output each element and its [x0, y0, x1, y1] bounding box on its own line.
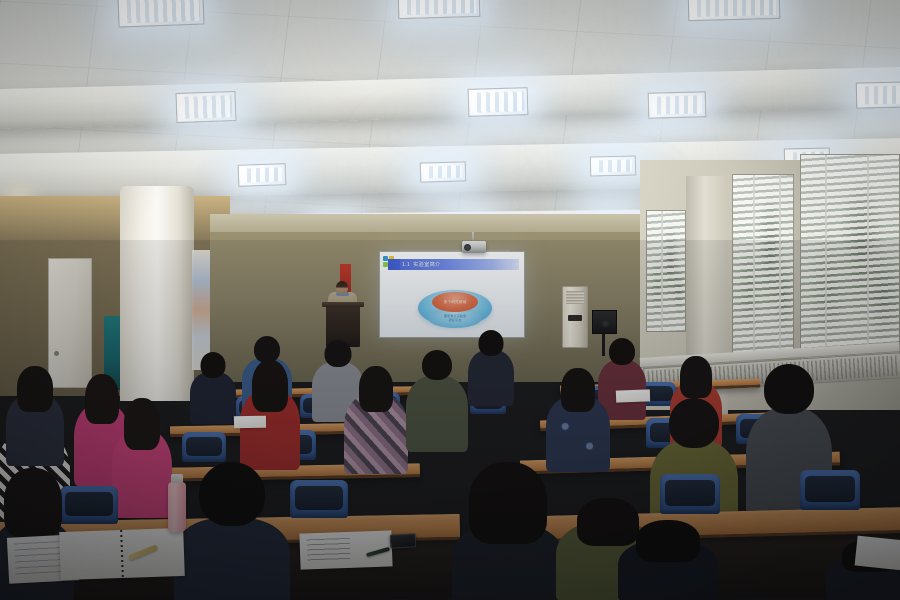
hair — [4, 468, 62, 538]
podium-top — [322, 302, 364, 307]
presenter-head — [336, 281, 348, 294]
ceiling-light-troffer-7 — [238, 163, 287, 187]
window-panel-3 — [800, 154, 900, 368]
blind-slats-3[interactable] — [801, 155, 899, 367]
blind-slats-1[interactable] — [647, 211, 685, 331]
torso — [406, 376, 468, 452]
person-blue-shirt — [190, 352, 236, 424]
door-knob-icon — [54, 351, 59, 356]
audio-speaker — [592, 310, 617, 334]
head — [422, 350, 452, 380]
ceiling-light-troffer-5 — [468, 87, 529, 117]
ceiling-light-troffer-8 — [420, 161, 467, 182]
hair — [17, 366, 53, 412]
person-pink-2 — [112, 398, 172, 518]
person-dark-2 — [468, 330, 514, 406]
blind-cord-3[interactable] — [825, 155, 827, 367]
slide-inner-label: 多个研究领域 — [444, 300, 467, 305]
head — [254, 336, 280, 363]
blind-cord-2[interactable] — [753, 175, 755, 357]
hair — [680, 356, 712, 398]
ceiling-light-troffer-9 — [590, 155, 636, 176]
hair — [636, 520, 700, 562]
slide-caption: 国家重点实验室 研究平台 — [432, 314, 478, 322]
person-right-front-dark — [618, 520, 718, 600]
slide-canvas: 1.1 实验室简介 多个研究领域 国家重点实验室 研究平台 — [380, 252, 524, 337]
person-olive-jacket — [406, 350, 468, 452]
notebook-lines — [307, 538, 350, 563]
head — [479, 330, 504, 356]
ceiling-light-troffer-6 — [648, 91, 707, 118]
person-back-left-1 — [6, 366, 64, 466]
notebook-spiral-icon — [120, 530, 124, 578]
ceiling-light-troffer-3 — [688, 0, 781, 21]
person-navy-floral — [546, 368, 610, 472]
hair — [469, 462, 547, 544]
bottle-cap — [171, 474, 184, 483]
head — [609, 338, 635, 365]
blind-cord-2b[interactable] — [779, 175, 781, 357]
ceiling-light-troffer-2 — [398, 0, 481, 19]
notebook-open — [59, 528, 185, 580]
torso — [174, 518, 290, 600]
paper-right — [855, 536, 900, 571]
ac-vent-grille — [566, 291, 584, 304]
hair — [124, 398, 160, 450]
torso — [468, 350, 514, 406]
chair-r3-2[interactable] — [290, 480, 348, 518]
lecture-hall-photo: 1.1 实验室简介 多个研究领域 国家重点实验室 研究平台 — [0, 0, 900, 600]
structural-column — [120, 186, 194, 401]
blind-cord-3b[interactable] — [867, 155, 869, 367]
slide-title-text: 实验室简介 — [413, 261, 440, 268]
head — [201, 352, 226, 378]
window-panel-1 — [646, 210, 686, 332]
paper-lines — [14, 541, 63, 575]
blind-slats-2[interactable] — [733, 175, 793, 357]
slide-caption-line-2: 研究平台 — [432, 318, 478, 322]
person-floral — [344, 366, 408, 474]
head — [669, 398, 719, 448]
window-panel-2 — [732, 174, 794, 358]
chair-r3-4[interactable] — [800, 470, 860, 510]
paper-mid-left — [234, 416, 266, 429]
person-center-front — [452, 462, 564, 600]
ac-control-panel[interactable] — [568, 315, 582, 321]
ceiling-light-troffer-1 — [117, 0, 204, 27]
paper-mid-right — [616, 389, 650, 402]
left-wall-cove-light — [0, 196, 230, 242]
head — [199, 462, 265, 526]
slide-inner-ellipse: 多个研究领域 — [432, 292, 478, 312]
ceiling-light-troffer-6b — [856, 81, 900, 108]
person-navy-front-left — [174, 462, 290, 600]
torso — [190, 372, 236, 424]
hair — [252, 360, 288, 412]
chair-r2-2[interactable] — [182, 432, 226, 462]
head — [764, 364, 814, 414]
water-bottle-pink[interactable] — [168, 482, 186, 532]
head — [325, 340, 352, 367]
projection-screen: 1.1 实验室简介 多个研究领域 国家重点实验室 研究平台 — [379, 251, 525, 338]
chair-r3-3[interactable] — [660, 474, 720, 514]
slide-title-number: 1.1 — [402, 262, 410, 268]
ceiling-light-troffer-4 — [175, 91, 236, 123]
hair — [561, 368, 595, 412]
blind-cord-1[interactable] — [661, 211, 663, 331]
ceiling-projector — [462, 241, 486, 253]
air-conditioner-unit — [562, 286, 588, 348]
projector-lens-icon — [464, 244, 471, 251]
hair — [359, 366, 393, 412]
slide-title-bar: 1.1 实验室简介 — [388, 259, 519, 270]
smartphone[interactable] — [390, 533, 417, 548]
